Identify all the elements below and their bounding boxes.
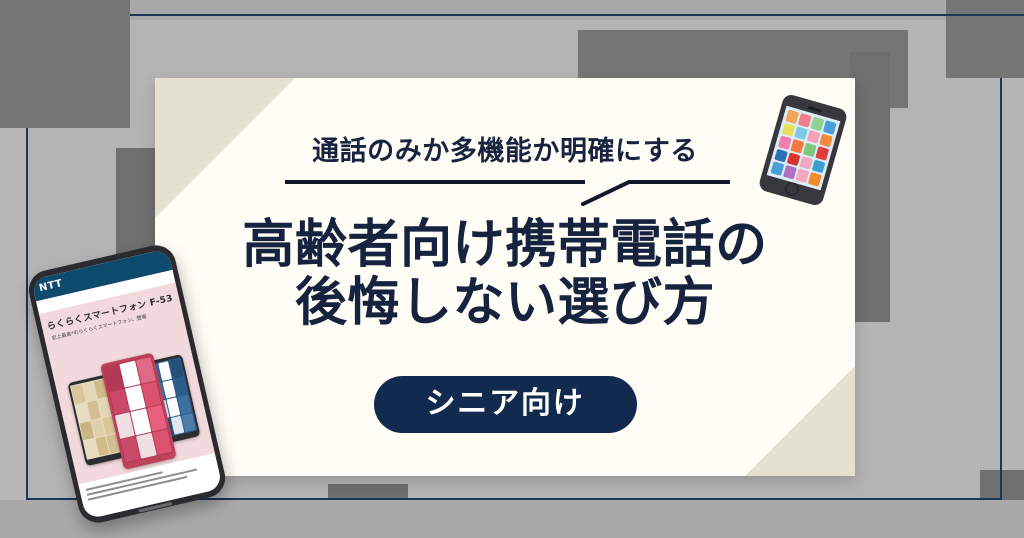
app-icon-8 [819, 133, 833, 147]
badge-row: シニア向け [155, 376, 855, 433]
page-title-line-1: 高齢者向け携帯電話の [242, 215, 767, 275]
bg-line-top-horizontal [130, 14, 1024, 16]
page-title: 高齢者向け携帯電話の 後悔しない選び方 [155, 216, 855, 332]
underline-segment-left [285, 180, 585, 184]
poster-canvas: 通話のみか多機能か明確にする 高齢者向け携帯電話の 後悔しない選び方 シニア向け [0, 0, 1024, 538]
bg-line-left-vertical [26, 128, 28, 500]
app-icon-3 [810, 117, 824, 131]
app-icon-18 [783, 165, 797, 179]
bg-rect-top-left-light [0, 128, 28, 538]
app-icon-9 [778, 136, 792, 150]
subtitle-underline-accent [285, 180, 730, 206]
app-icon-14 [787, 152, 801, 166]
bg-rect-right-tall-dark [850, 52, 890, 322]
status-badge: シニア向け [374, 376, 637, 433]
card-subtitle: 通話のみか多機能か明確にする [312, 138, 698, 165]
underline-segment-right [630, 180, 730, 184]
hero-card: 通話のみか多機能か明確にする 高齢者向け携帯電話の 後悔しない選び方 シニア向け [155, 78, 855, 476]
app-icon-16 [812, 159, 826, 173]
app-icon-2 [798, 113, 812, 127]
bg-rect-top-left-dark [0, 0, 130, 128]
app-icon-15 [799, 156, 813, 170]
app-icon-17 [770, 162, 784, 176]
app-icon-5 [782, 123, 796, 137]
subtitle-row: 通話のみか多機能か明確にする [155, 138, 855, 165]
app-icon-11 [803, 143, 817, 157]
app-icon-10 [790, 139, 804, 153]
app-icon-19 [795, 169, 809, 183]
app-icon-4 [823, 120, 837, 134]
background-top-band [0, 0, 1024, 20]
footnote-line-3 [88, 476, 188, 501]
page-title-line-2: 後悔しない選び方 [155, 274, 855, 332]
card-text-block: 通話のみか多機能か明確にする 高齢者向け携帯電話の 後悔しない選び方 シニア向け [155, 78, 855, 476]
app-icon-12 [815, 146, 829, 160]
device-tile-9 [178, 395, 192, 414]
app-icon-6 [794, 126, 808, 140]
app-icon-7 [807, 130, 821, 144]
app-icon-20 [808, 172, 822, 186]
app-icon-13 [774, 149, 788, 163]
underline-slash-icon [581, 180, 633, 206]
app-icon-1 [785, 109, 799, 123]
bg-line-right-vertical [1000, 78, 1002, 500]
bg-rect-far-right-dark [946, 0, 1024, 78]
